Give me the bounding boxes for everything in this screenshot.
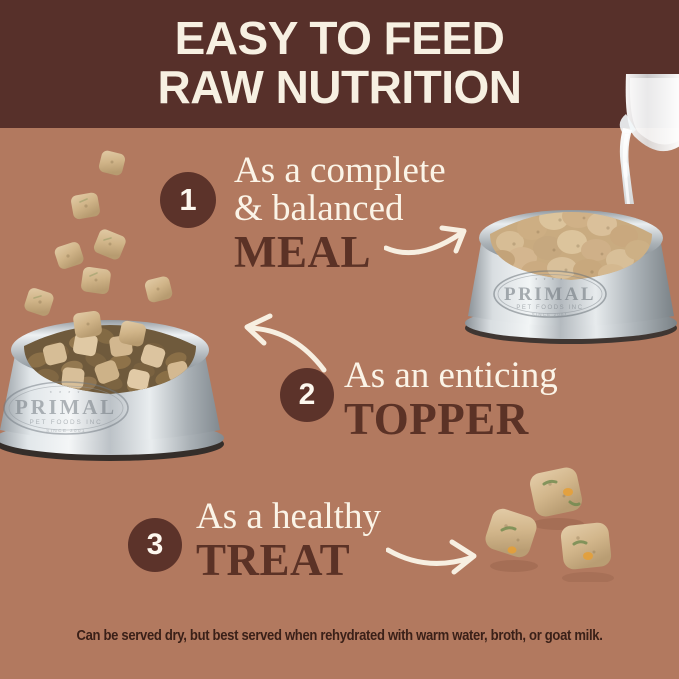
step-badge-1: 1 (160, 172, 216, 228)
page-title: EASY TO FEED RAW NUTRITION (0, 14, 679, 112)
arrow-to-treats-icon (386, 534, 484, 587)
arrow-to-meal-bowl-icon (384, 218, 476, 271)
step-1-line-1: As a complete (234, 152, 446, 190)
title-line-2: RAW NUTRITION (0, 63, 679, 112)
step-3-keyword: TREAT (196, 536, 381, 584)
step-badge-3: 3 (128, 518, 182, 572)
arrow-to-topper-bowl-icon (238, 312, 334, 379)
water-pitcher (596, 74, 679, 209)
svg-text:SINCE 2001: SINCE 2001 (46, 428, 86, 434)
step-2-keyword: TOPPER (344, 395, 558, 443)
poster-canvas: * * * * PRIMAL PET FOODS INC SINCE 2001 (0, 0, 679, 679)
svg-text:PRIMAL: PRIMAL (504, 284, 596, 305)
svg-text:PRIMAL: PRIMAL (15, 395, 117, 419)
step-text-2: As an enticing TOPPER (344, 357, 558, 443)
svg-text:SINCE 2001: SINCE 2001 (532, 312, 568, 317)
footer-caption: Can be served dry, but best served when … (34, 628, 645, 644)
bowl-meal-logo: * * * * PRIMAL PET FOODS INC SINCE 2001 (494, 271, 606, 317)
treat-nuggets-group (470, 462, 640, 587)
svg-text:PET FOODS INC: PET FOODS INC (516, 305, 583, 311)
step-text-3: As a healthy TREAT (196, 498, 381, 584)
title-line-1: EASY TO FEED (175, 12, 505, 64)
svg-text:PET FOODS INC: PET FOODS INC (30, 419, 103, 426)
step-2-line-1: As an enticing (344, 357, 558, 395)
step-3-line-1: As a healthy (196, 498, 381, 536)
